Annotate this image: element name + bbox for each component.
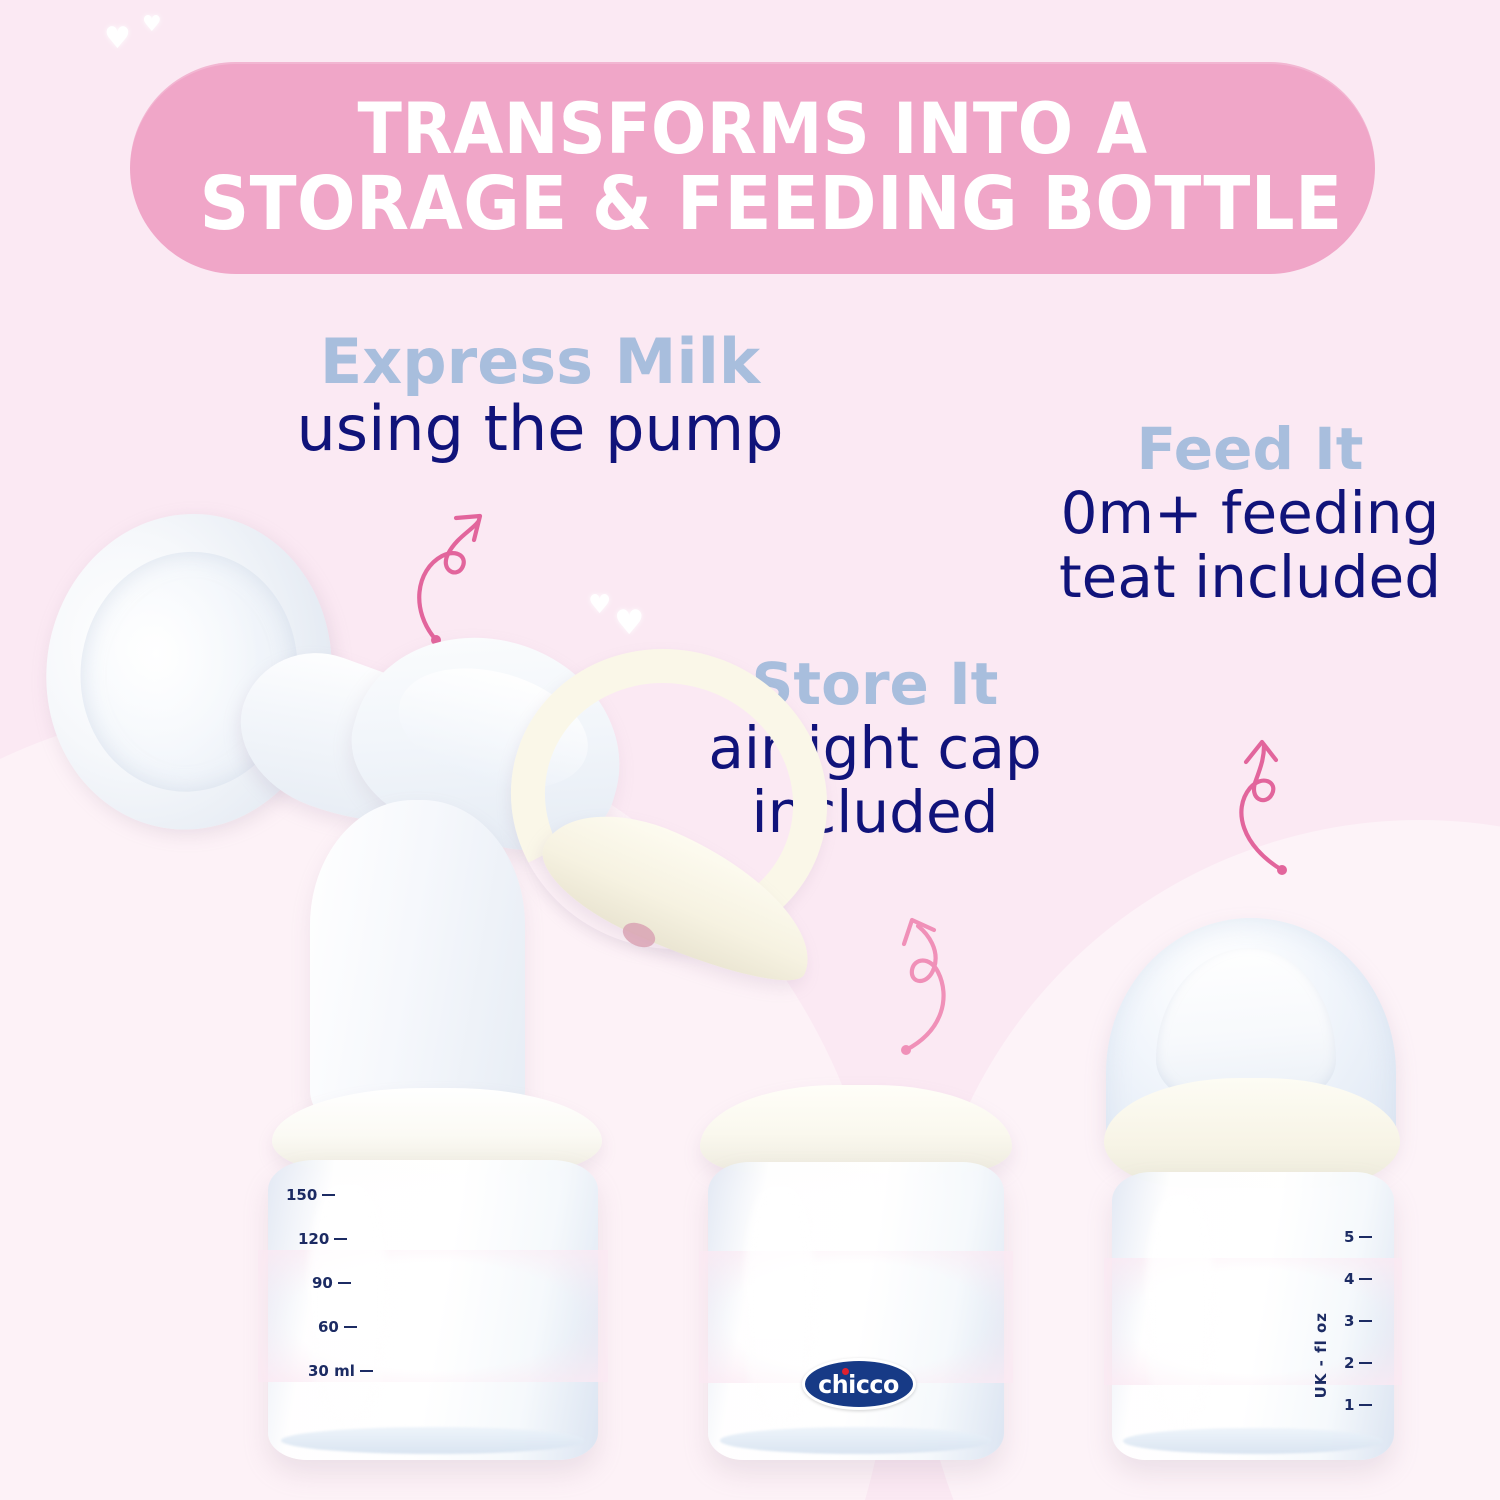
scale-mark: 3 — [1344, 1312, 1354, 1330]
scale-mark: 90 — [312, 1274, 333, 1292]
scale-mark: 150 — [286, 1186, 317, 1204]
chicco-logo-text: chicco — [819, 1370, 900, 1399]
scale-mark: 30 ml — [308, 1362, 355, 1380]
scale-mark: 2 — [1344, 1354, 1354, 1372]
feeding-bottle-scale-unit: UK - fl oz — [1312, 1312, 1330, 1398]
pump-bottle: 150 120 90 60 30 ml — [268, 1160, 598, 1460]
product-storage-bottle: chicco — [690, 0, 1030, 1500]
bottle-base-rim — [281, 1427, 585, 1454]
pump-bottle-ml-scale: 150 120 90 60 30 ml — [278, 1186, 388, 1380]
product-pump-bottle: 150 120 90 60 30 ml — [0, 0, 700, 1500]
scale-mark: 1 — [1344, 1396, 1354, 1414]
storage-bottle: chicco — [708, 1162, 1004, 1460]
product-feeding-bottle: UK - fl oz 5 4 3 2 1 — [1060, 0, 1460, 1500]
infographic-canvas: TRANSFORMS INTO A STORAGE & FEEDING BOTT… — [0, 0, 1500, 1500]
bottle-base-rim — [720, 1427, 992, 1454]
scale-mark: 4 — [1344, 1270, 1354, 1288]
bottle-highlight — [1146, 1195, 1214, 1425]
airtight-cap — [700, 1085, 1012, 1173]
scale-mark: 5 — [1344, 1228, 1354, 1246]
feeding-bottle-floz-scale: 5 4 3 2 1 — [1344, 1228, 1404, 1414]
scale-mark: 120 — [298, 1230, 329, 1248]
feeding-bottle: UK - fl oz 5 4 3 2 1 — [1112, 1172, 1394, 1460]
scale-mark: 60 — [318, 1318, 339, 1336]
chicco-logo: chicco — [802, 1358, 916, 1410]
